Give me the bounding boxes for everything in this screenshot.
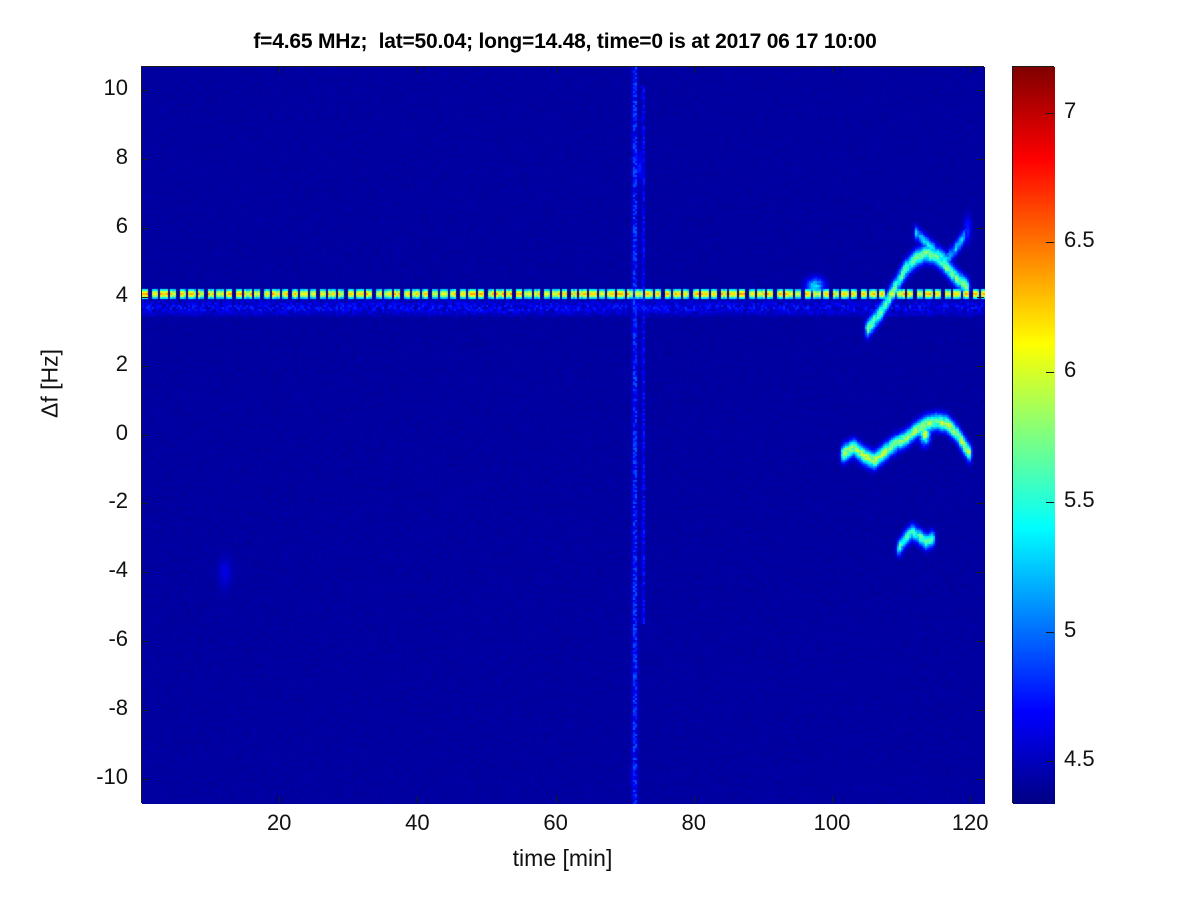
y-tick-mark [977,641,984,642]
y-tick-label: -4 [108,557,128,583]
y-tick-mark [141,90,148,91]
spectrogram-axes[interactable] [141,66,984,803]
x-tick-label: 60 [543,810,567,836]
y-tick-label: 6 [116,213,128,239]
x-tick-mark [694,66,695,73]
colorbar-tick-label: 5 [1064,617,1076,643]
x-tick-label: 20 [267,810,291,836]
y-tick-mark [977,779,984,780]
y-tick-mark [977,297,984,298]
x-tick-mark [556,796,557,803]
x-axis-title: time [min] [141,845,984,872]
x-tick-label: 40 [405,810,429,836]
y-tick-mark [141,572,148,573]
x-tick-mark [417,66,418,73]
y-tick-mark [141,435,148,436]
y-tick-mark [977,572,984,573]
y-tick-mark [141,228,148,229]
y-tick-mark [977,90,984,91]
colorbar-tick-mark [1046,113,1054,114]
y-tick-label: 4 [116,282,128,308]
y-tick-label: -2 [108,488,128,514]
y-tick-mark [141,641,148,642]
y-tick-mark [977,435,984,436]
x-tick-mark [556,66,557,73]
colorbar-tick-mark [1046,632,1054,633]
x-tick-label: 120 [952,810,989,836]
x-tick-mark [832,796,833,803]
y-tick-mark [977,228,984,229]
y-tick-label: -6 [108,626,128,652]
x-tick-mark [279,66,280,73]
x-tick-label: 100 [814,810,851,836]
y-tick-label: 0 [116,420,128,446]
x-tick-mark [970,66,971,73]
x-tick-mark [694,796,695,803]
colorbar-tick-label: 6 [1064,357,1076,383]
y-tick-mark [141,710,148,711]
y-axis-title: Δf [Hz] [37,274,64,494]
figure-canvas: f=4.65 MHz; lat=50.04; long=14.48, time=… [0,0,1200,900]
y-tick-label: -10 [96,764,128,790]
colorbar-tick-mark [1046,242,1054,243]
page-title: f=4.65 MHz; lat=50.04; long=14.48, time=… [0,30,1130,54]
y-tick-mark [141,366,148,367]
y-tick-mark [141,297,148,298]
colorbar-tick-label: 5.5 [1064,487,1095,513]
colorbar-tick-mark [1046,761,1054,762]
y-tick-mark [977,159,984,160]
colorbar-tick-label: 7 [1064,98,1076,124]
y-tick-mark [977,366,984,367]
x-tick-mark [417,796,418,803]
y-tick-mark [977,710,984,711]
y-tick-label: 8 [116,144,128,170]
colorbar-tick-mark [1046,372,1054,373]
y-tick-mark [141,159,148,160]
y-tick-mark [141,779,148,780]
colorbar-tick-label: 6.5 [1064,227,1095,253]
colorbar-tick-mark [1046,502,1054,503]
y-tick-label: 10 [104,75,128,101]
x-tick-mark [832,66,833,73]
x-tick-mark [970,796,971,803]
colorbar-tick-label: 4.5 [1064,746,1095,772]
y-tick-mark [977,503,984,504]
y-tick-mark [141,503,148,504]
x-tick-label: 80 [682,810,706,836]
y-tick-label: -8 [108,695,128,721]
y-tick-label: 2 [116,351,128,377]
x-tick-mark [279,796,280,803]
colorbar-gradient[interactable] [1013,67,1055,804]
colorbar[interactable] [1012,66,1054,803]
spectrogram-image[interactable] [142,67,985,804]
